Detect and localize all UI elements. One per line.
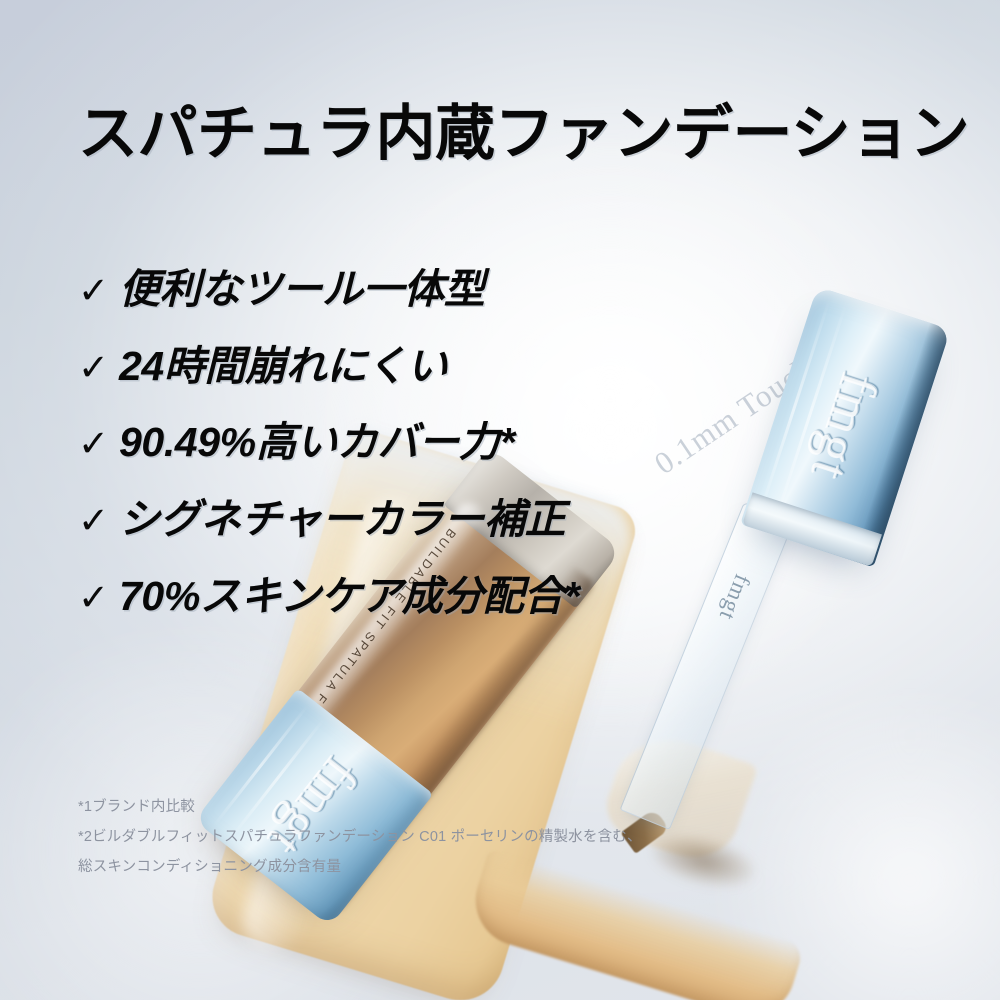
detached-cap: fmgt <box>740 286 950 567</box>
check-icon: ✓ <box>78 272 109 309</box>
feature-item-2: ✓ 24時間崩れにくい <box>78 343 718 390</box>
feature-label: 70%スキンケア成分配合* <box>119 573 580 620</box>
footnote-line-2: *2ビルダブルフィットスパチュラファンデーション C01 ポーセリンの精製水を含… <box>78 823 718 853</box>
feature-label: 24時間崩れにくい <box>119 343 447 390</box>
check-icon: ✓ <box>78 349 109 386</box>
feature-item-4: ✓ シグネチャーカラー補正 <box>78 496 718 543</box>
detached-cap-brand-emboss: fmgt <box>799 365 892 489</box>
feature-label: 便利なツール一体型 <box>119 266 484 313</box>
check-icon: ✓ <box>78 579 109 616</box>
feature-label: 90.49%高いカバー力* <box>119 419 515 466</box>
feature-list: ✓ 便利なツール一体型 ✓ 24時間崩れにくい ✓ 90.49%高いカバー力* … <box>78 266 718 650</box>
footnote-line-3: 総スキンコンディショニング成分含有量 <box>78 853 718 883</box>
product-marketing-image: 0.1mm Touch BUILDABLE FIT SPATULA FOUNDA… <box>0 0 1000 1000</box>
background-glow-lower-right <box>700 700 1000 1000</box>
feature-item-3: ✓ 90.49%高いカバー力* <box>78 419 718 466</box>
feature-label: シグネチャーカラー補正 <box>119 496 565 543</box>
check-icon: ✓ <box>78 502 109 539</box>
footnote-line-1: *1ブランド内比較 <box>78 793 718 823</box>
page-title: スパチュラ内蔵ファンデーション <box>78 100 958 167</box>
footnote-block: *1ブランド内比較 *2ビルダブルフィットスパチュラファンデーション C01 ポ… <box>78 793 718 883</box>
feature-item-1: ✓ 便利なツール一体型 <box>78 266 718 313</box>
feature-item-5: ✓ 70%スキンケア成分配合* <box>78 573 718 620</box>
check-icon: ✓ <box>78 425 109 462</box>
spatula-brand-mark: fmgt <box>714 570 756 624</box>
